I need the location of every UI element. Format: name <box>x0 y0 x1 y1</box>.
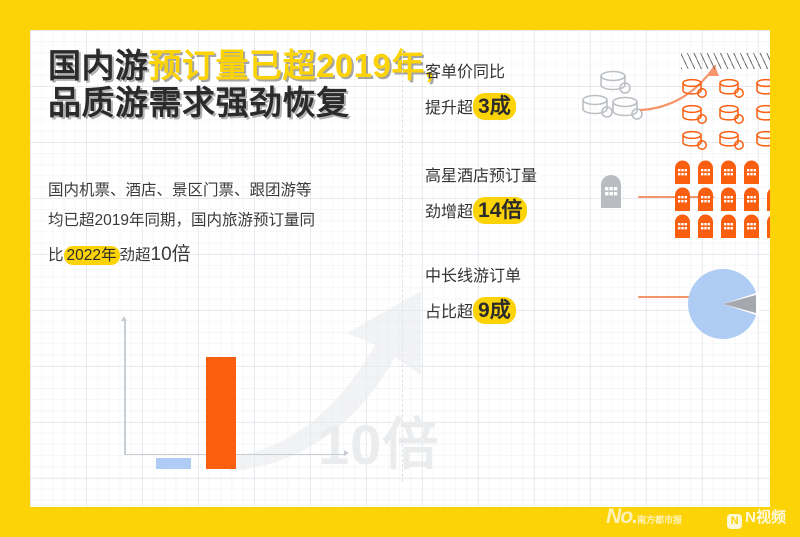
body-line-3: 比2022年劲超10倍 <box>48 236 388 273</box>
hotel-building-orange-icon <box>673 187 692 211</box>
stat-1-prefix: 劲增超 <box>425 204 473 221</box>
stat-2-prefix: 占比超 <box>425 304 473 321</box>
hotel-building-orange-icon <box>719 160 738 184</box>
stat-row-long-distance-trip: 中长线游订单 占比超9成 <box>425 252 755 357</box>
body-line-3-mid: 劲超 <box>120 247 151 264</box>
coin-stack-orange-icon <box>680 104 712 126</box>
infographic-card: 国内游预订量已超2019年, 品质游需求强劲恢复 国内机票、酒店、景区门票、跟团… <box>30 30 770 507</box>
stat-row-high-star-hotel: 高星酒店预订量 劲增超14倍 <box>425 152 755 257</box>
stat-2-highlight: 9成 <box>473 297 516 324</box>
diagonal-hatch-decoration <box>681 53 770 69</box>
body-line-2: 均已超2019年同期，国内旅游预订量同 <box>48 206 388 236</box>
chart-x-axis-arrow <box>344 450 349 456</box>
stat-2-line-2: 占比超9成 <box>425 292 575 331</box>
bar-chart <box>100 320 350 470</box>
stat-1-line-1: 高星酒店预订量 <box>425 162 575 192</box>
hotel-building-orange-icon <box>742 160 761 184</box>
title-part-yellow: 预订量已超2019年, <box>149 47 435 84</box>
nvideo-badge-icon: N <box>727 514 742 529</box>
hotel-building-orange-grid <box>673 160 770 238</box>
coin-stack-orange-icon <box>680 78 712 100</box>
stat-0-prefix: 提升超 <box>425 100 473 117</box>
hotel-building-orange-icon <box>673 214 692 238</box>
stat-0-text: 客单价同比 提升超3成 <box>425 58 575 126</box>
hotel-building-orange-icon <box>696 214 715 238</box>
stat-1-text: 高星酒店预订量 劲增超14倍 <box>425 162 575 230</box>
chart-bar-2023 <box>206 357 236 469</box>
coin-stack-orange-icon <box>754 130 770 152</box>
hotel-building-orange-icon <box>673 160 692 184</box>
stat-2-text: 中长线游订单 占比超9成 <box>425 262 575 330</box>
body-highlight-2022: 2022年 <box>64 246 120 265</box>
stat-1-highlight: 14倍 <box>473 197 527 224</box>
coin-stack-orange-icon <box>680 130 712 152</box>
nvideo-watermark-text: N视频 <box>745 509 786 526</box>
hotel-building-orange-icon <box>719 214 738 238</box>
chart-y-axis-arrow <box>121 316 127 321</box>
stat-1-line-2: 劲增超14倍 <box>425 192 575 231</box>
coin-stack-orange-icon <box>717 78 749 100</box>
hotel-building-orange-icon <box>765 187 770 211</box>
hotel-building-gray-icon <box>597 174 625 208</box>
hotel-building-orange-icon <box>742 187 761 211</box>
title-part-dark: 国内游 <box>48 47 149 84</box>
coin-stack-orange-icon <box>717 130 749 152</box>
stat-2-line-1: 中长线游订单 <box>425 262 575 292</box>
hotel-building-orange-icon <box>696 160 715 184</box>
coin-stack-orange-icon <box>754 104 770 126</box>
body-line-3-number: 10倍 <box>151 244 191 265</box>
coin-stack-orange-icon <box>754 78 770 100</box>
hotel-building-orange-icon <box>696 187 715 211</box>
hotel-building-orange-icon <box>719 187 738 211</box>
coin-stack-orange-grid <box>680 78 770 152</box>
nvideo-watermark: NN视频 <box>727 506 786 529</box>
nandu-watermark: No.南方都市报 <box>606 505 682 529</box>
chart-bar-2022 <box>156 458 191 468</box>
pie-chart-icon <box>687 268 759 340</box>
chart-y-axis <box>124 320 126 455</box>
poster-frame: 国内游预订量已超2019年, 品质游需求强劲恢复 国内机票、酒店、景区门票、跟团… <box>0 0 800 537</box>
stat-row-average-order-value: 客单价同比 提升超3成 <box>425 48 755 153</box>
nandu-watermark-sub: 南方都市报 <box>637 515 682 525</box>
body-line-1: 国内机票、酒店、景区门票、跟团游等 <box>48 176 388 206</box>
nandu-watermark-main: No. <box>606 505 637 528</box>
stat-0-line-2: 提升超3成 <box>425 88 575 127</box>
stat-0-line-1: 客单价同比 <box>425 58 575 88</box>
body-paragraph: 国内机票、酒店、景区门票、跟团游等 均已超2019年同期，国内旅游预订量同 比2… <box>48 176 388 273</box>
section-divider <box>402 50 403 482</box>
coin-stack-gray-icon <box>581 66 643 124</box>
stat-0-highlight: 3成 <box>473 93 516 120</box>
hotel-building-orange-icon <box>765 214 770 238</box>
coin-stack-orange-icon <box>717 104 749 126</box>
hotel-building-orange-icon <box>742 214 761 238</box>
body-line-3-prefix: 比 <box>48 247 64 264</box>
